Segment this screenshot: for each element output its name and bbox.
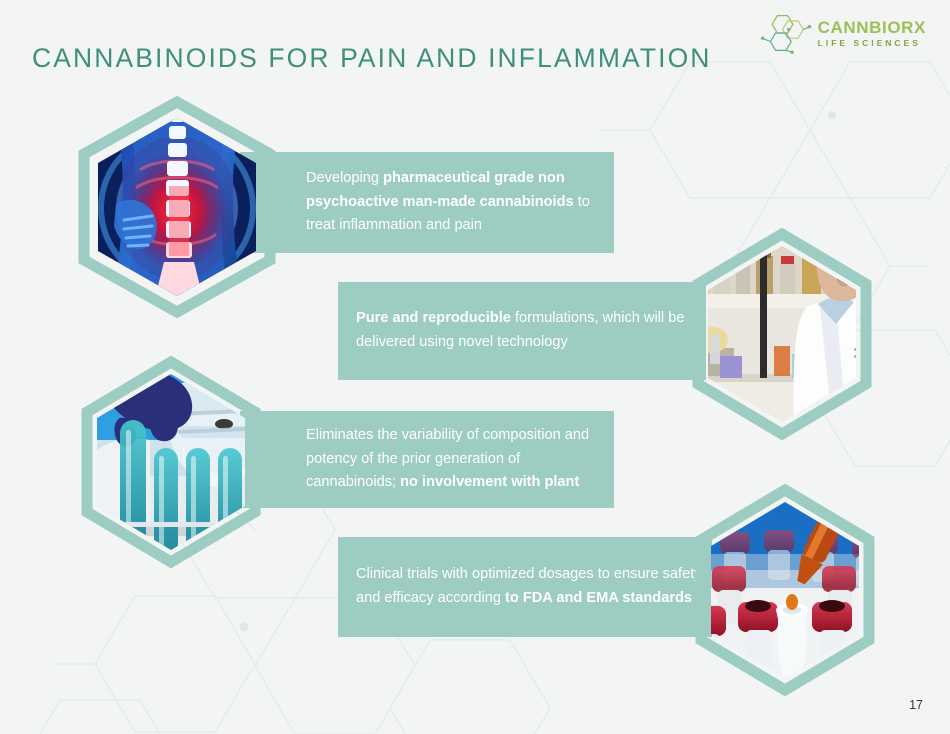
feature-band-3: Eliminates the variability of compositio…: [240, 411, 614, 508]
image-hex-test-tubes: [58, 356, 284, 568]
logo-wordmark: CANNBIORX: [818, 19, 926, 36]
feature-band-3-text: Eliminates the variability of compositio…: [306, 424, 614, 495]
logo-tagline: LIFE SCIENCES: [818, 39, 926, 48]
page-number: 17: [909, 698, 923, 712]
feature-band-4-text: Clinical trials with optimized dosages t…: [356, 563, 712, 610]
brand-logo: CANNBIORX LIFE SCIENCES: [760, 12, 926, 54]
feature-band-2: Pure and reproducible formulations, whic…: [338, 282, 706, 380]
slide: CANNBIORX LIFE SCIENCES CANNABINOIDS FOR…: [0, 0, 950, 734]
feature-band-4: Clinical trials with optimized dosages t…: [338, 537, 712, 637]
feature-band-2-text: Pure and reproducible formulations, whic…: [356, 307, 706, 354]
image-hex-vials: [672, 484, 898, 696]
feature-band-1-text: Developing pharmaceutical grade non psyc…: [306, 167, 614, 238]
image-hex-scientist: [668, 228, 896, 440]
feature-band-1: Developing pharmaceutical grade non psyc…: [240, 152, 614, 253]
hexagon-molecule-icon: [760, 12, 812, 54]
page-title: CANNABINOIDS FOR PAIN AND INFLAMMATION: [32, 43, 712, 74]
image-hex-back-pain: [66, 96, 288, 318]
